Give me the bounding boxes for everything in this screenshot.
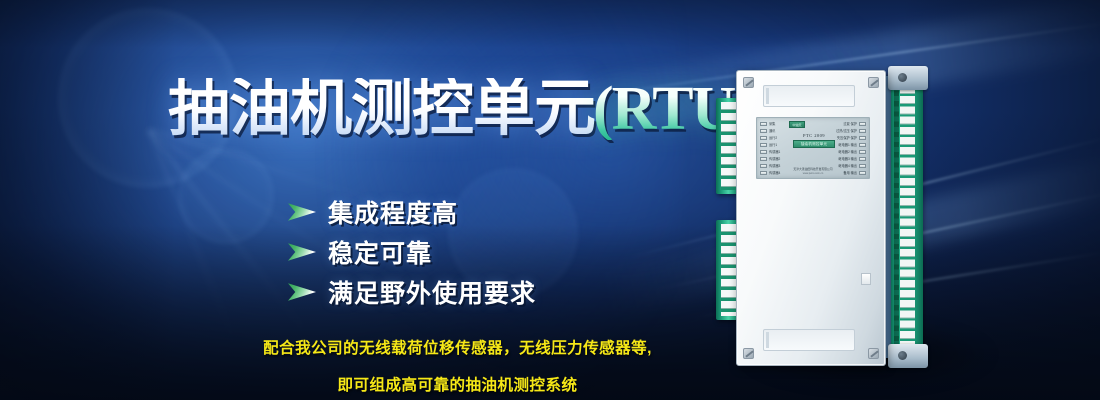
indicator-label: 继电器3 输出: [838, 157, 857, 161]
led-icon: [760, 150, 767, 154]
device-label-footer: 天津大港油田科技开发有限公司 www.petro.com.cn: [757, 168, 869, 175]
indicator-row: 继电器3 输出: [838, 156, 866, 162]
rtu-device-image: 中油天 采集 通讯 运行2: [718, 62, 1058, 382]
device-label-center: PTC 2009 抽油机测控单元: [791, 132, 837, 148]
screw-icon: [743, 77, 754, 88]
list-item: 满足野外使用要求: [288, 272, 536, 312]
indicator-label: 失压保护 保护: [837, 136, 857, 140]
indicator-row: 继电器2 输出: [838, 149, 866, 155]
led-icon: [859, 157, 866, 161]
device-slot-top: [763, 85, 855, 107]
indicator-row: 继电器1 输出: [838, 142, 866, 148]
indicator-label: 过热/过压 保护: [836, 129, 857, 133]
led-icon: [859, 122, 866, 126]
terminal-cap-bottom: [888, 344, 928, 368]
list-item: 集成程度高: [288, 192, 536, 232]
indicator-label: 运行1: [769, 143, 777, 147]
arrow-right-icon: [288, 283, 316, 302]
led-icon: [859, 129, 866, 133]
led-icon: [859, 143, 866, 147]
terminal-cap-top: [888, 66, 928, 90]
indicator-label: 通讯: [769, 129, 775, 133]
led-icon: [760, 164, 767, 168]
terminal-screws-right: [900, 86, 915, 346]
device-logo-text: 中油天: [792, 123, 801, 127]
indicator-label: 传感器2: [769, 157, 780, 161]
feature-bullet-list: 集成程度高 稳定可靠 满足野外使用要求: [288, 192, 536, 312]
list-item: 稳定可靠: [288, 232, 536, 272]
indicator-row: 过载 保护: [843, 121, 866, 127]
bullet-label: 稳定可靠: [328, 234, 432, 270]
terminal-screws-left-lower: [721, 224, 737, 316]
indicator-label: 采集: [769, 122, 775, 126]
device-website: www.petro.com.cn: [757, 172, 869, 175]
led-icon: [760, 129, 767, 133]
indicator-row: 采集: [760, 121, 780, 127]
led-icon: [760, 122, 767, 126]
device-label-panel: 中油天 采集 通讯 运行2: [756, 117, 870, 179]
terminal-ridges-right: [894, 86, 899, 346]
indicator-row: 传感器2: [760, 156, 780, 162]
indicator-label: 运行2: [769, 136, 777, 140]
indicator-label: 继电器4 输出: [838, 164, 857, 168]
indicator-label: 传感器3: [769, 164, 780, 168]
indicator-row: 运行1: [760, 142, 780, 148]
device-lcd-screen: 抽油机测控单元: [793, 140, 835, 148]
mounting-hole-icon: [898, 351, 907, 360]
led-icon: [760, 157, 767, 161]
indicator-row: 传感器1: [760, 149, 780, 155]
led-icon: [859, 150, 866, 154]
indicator-row: 失压保护 保护: [837, 135, 866, 141]
arrow-right-icon: [288, 203, 316, 222]
mounting-hole-icon: [898, 73, 907, 82]
indicator-label: 传感器1: [769, 150, 780, 154]
indicator-label: 继电器1 输出: [838, 143, 857, 147]
led-icon: [859, 164, 866, 168]
indicator-label: 继电器2 输出: [838, 150, 857, 154]
product-banner: 抽油机测控单元(RTU) 集成程度高 稳定可靠 满足野外使用要求 配合我公司的无…: [0, 0, 1100, 400]
device-slot-bottom: [763, 329, 855, 351]
terminal-strip-right: [891, 82, 923, 350]
indicator-row: 过热/过压 保护: [836, 128, 866, 134]
device-enclosure: 中油天 采集 通讯 运行2: [736, 70, 886, 366]
device-sticker: [861, 273, 871, 285]
device-lcd-text: 抽油机测控单元: [801, 142, 828, 147]
led-icon: [859, 136, 866, 140]
title-main-text: 抽油机测控单元: [168, 78, 595, 140]
device-brand-logo: 中油天: [789, 121, 805, 128]
screw-icon: [868, 77, 879, 88]
bullet-label: 集成程度高: [328, 194, 458, 230]
screw-icon: [868, 348, 879, 359]
bullet-label: 满足野外使用要求: [328, 274, 536, 310]
led-icon: [760, 136, 767, 140]
indicator-row: 运行2: [760, 135, 780, 141]
device-model-number: PTC 2009: [791, 132, 837, 139]
led-icon: [760, 143, 767, 147]
indicator-label: 过载 保护: [843, 122, 857, 126]
arrow-right-icon: [288, 243, 316, 262]
indicator-row: 通讯: [760, 128, 780, 134]
screw-icon: [743, 348, 754, 359]
terminal-screws-left-upper: [721, 102, 737, 190]
banner-title: 抽油机测控单元(RTU): [168, 78, 753, 140]
